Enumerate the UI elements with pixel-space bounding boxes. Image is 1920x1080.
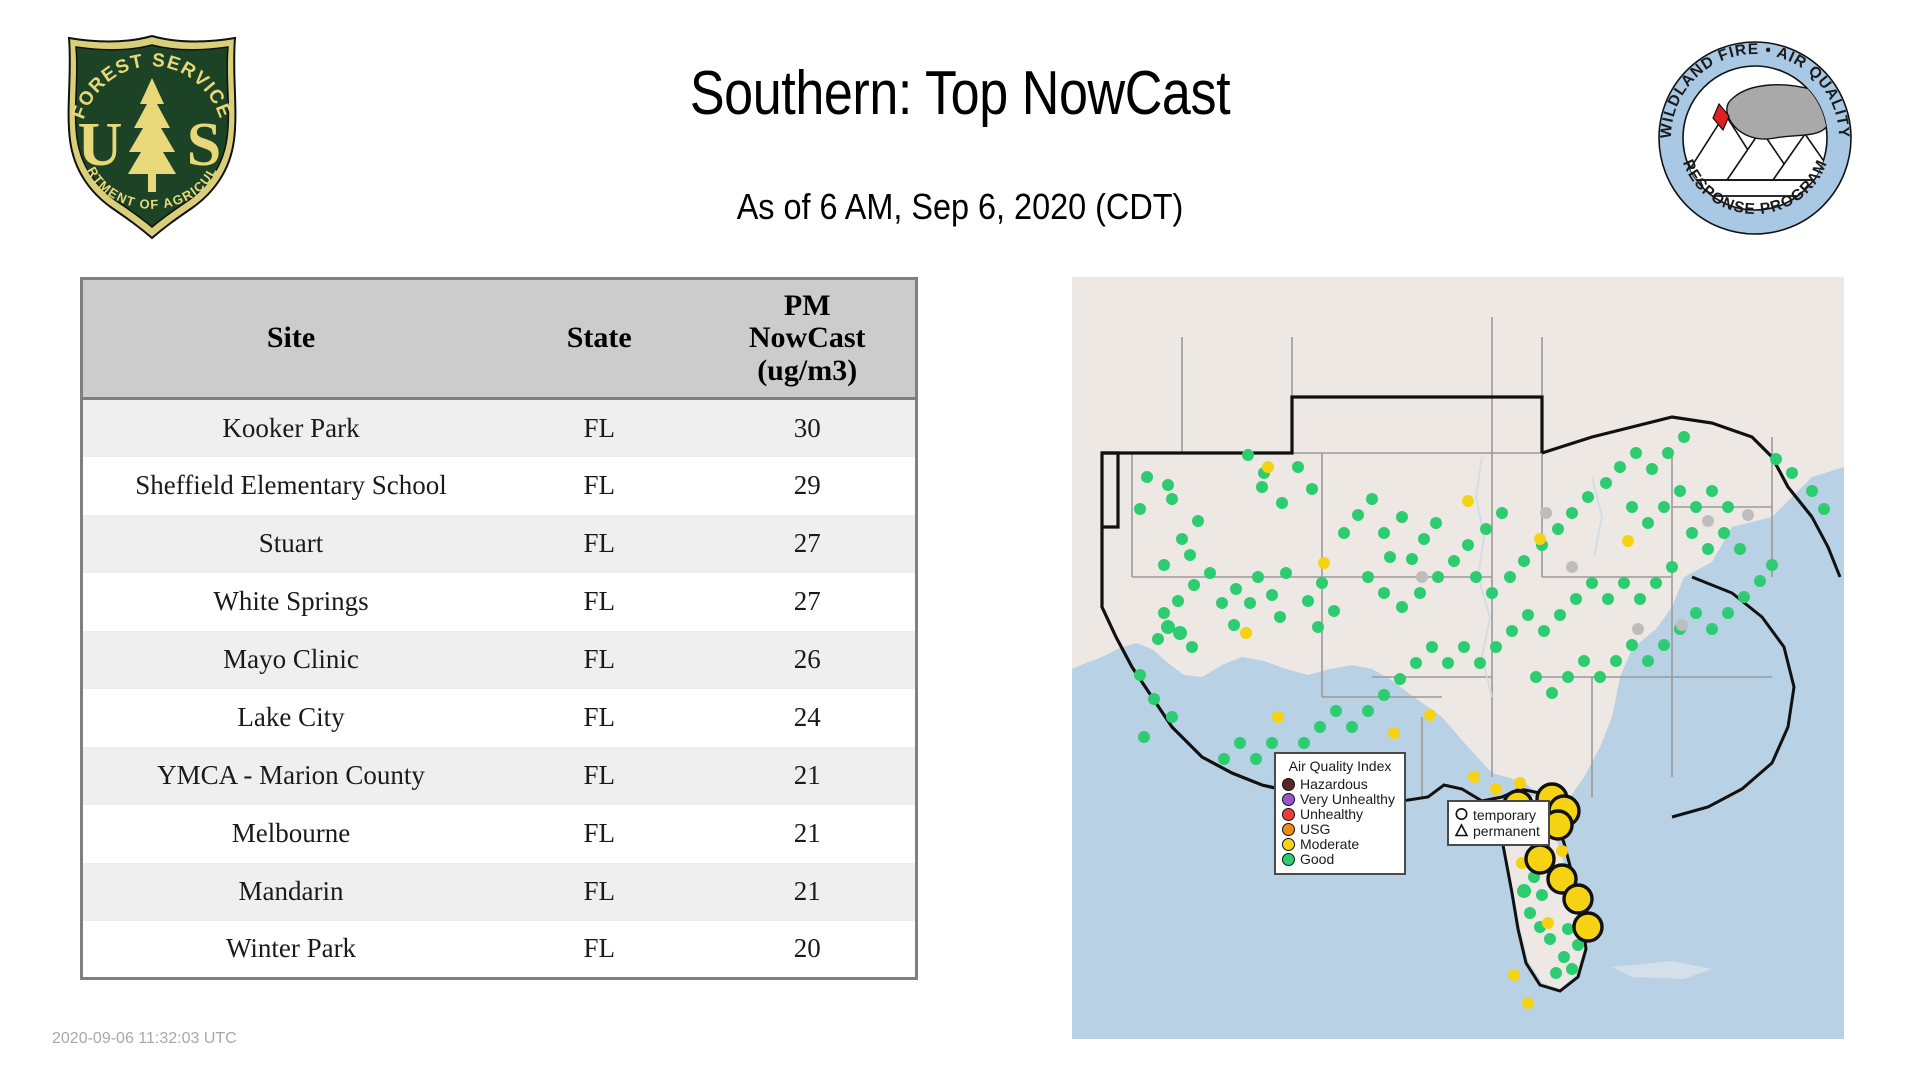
wildland-fire-air-quality-icon: WILDLAND FIRE • AIR QUALITY RESPONSE PRO… <box>1655 38 1855 238</box>
table-row: White Springs FL 27 <box>82 573 917 631</box>
aqi-swatch-icon <box>1282 793 1295 806</box>
aqi-legend-label: Moderate <box>1300 837 1359 851</box>
table-body: Kooker Park FL 30 Sheffield Elementary S… <box>82 399 917 979</box>
cell-state: FL <box>499 457 699 515</box>
column-header-state: State <box>499 279 699 399</box>
slide-root: FOREST SERVICE U S DEPARTMENT OF AGRICUL… <box>0 0 1920 1080</box>
pm-header-line-1: PM <box>703 290 911 322</box>
column-header-pm-nowcast: PM NowCast (ug/m3) <box>699 279 916 399</box>
aqi-legend-item-hazardous: Hazardous <box>1282 777 1398 791</box>
cell-pm: 21 <box>699 747 916 805</box>
permanent-triangle-icon <box>1454 823 1469 838</box>
cell-state: FL <box>499 573 699 631</box>
cell-site: YMCA - Marion County <box>82 747 500 805</box>
aqi-legend-item-good: Good <box>1282 852 1398 866</box>
cell-state: FL <box>499 921 699 979</box>
cell-pm: 21 <box>699 863 916 921</box>
cell-pm: 24 <box>699 689 916 747</box>
aqi-swatch-icon <box>1282 838 1295 851</box>
cell-site: Kooker Park <box>82 399 500 457</box>
aqi-swatch-icon <box>1282 853 1295 866</box>
cell-pm: 21 <box>699 805 916 863</box>
aqi-monitor-map[interactable] <box>1072 277 1844 1039</box>
cell-site: Melbourne <box>82 805 500 863</box>
table-row: Lake City FL 24 <box>82 689 917 747</box>
cell-state: FL <box>499 399 699 457</box>
page-subtitle: As of 6 AM, Sep 6, 2020 (CDT) <box>96 186 1824 228</box>
cell-site: Winter Park <box>82 921 500 979</box>
aqi-legend-title: Air Quality Index <box>1282 758 1398 774</box>
cell-site: Lake City <box>82 689 500 747</box>
page-title: Southern: Top NowCast <box>154 58 1767 129</box>
aqi-legend-item-unhealthy: Unhealthy <box>1282 807 1398 821</box>
cell-pm: 30 <box>699 399 916 457</box>
cell-state: FL <box>499 747 699 805</box>
aqi-swatch-icon <box>1282 808 1295 821</box>
aqi-legend-item-moderate: Moderate <box>1282 837 1398 851</box>
table-row: Melbourne FL 21 <box>82 805 917 863</box>
table-row: Sheffield Elementary School FL 29 <box>82 457 917 515</box>
aqi-legend: Air Quality Index Hazardous Very Unhealt… <box>1274 752 1406 875</box>
cell-state: FL <box>499 631 699 689</box>
aqi-legend-label: Good <box>1300 852 1334 866</box>
top-nowcast-table-container: Site State PM NowCast (ug/m3) Kooker Par… <box>80 277 918 980</box>
cell-site: Sheffield Elementary School <box>82 457 500 515</box>
top-site-marker[interactable] <box>1526 845 1554 873</box>
temporary-circle-icon <box>1454 807 1469 822</box>
cell-state: FL <box>499 863 699 921</box>
cell-pm: 29 <box>699 457 916 515</box>
top-site-marker[interactable] <box>1574 913 1602 941</box>
cell-site: White Springs <box>82 573 500 631</box>
cell-state: FL <box>499 689 699 747</box>
logo-letter-u: U <box>78 111 123 179</box>
site-type-temporary: temporary <box>1454 807 1540 822</box>
pm-header-line-2: NowCast <box>703 322 911 354</box>
aqi-legend-label: Hazardous <box>1300 777 1368 791</box>
table-row: Stuart FL 27 <box>82 515 917 573</box>
table-row: Mayo Clinic FL 26 <box>82 631 917 689</box>
cell-state: FL <box>499 805 699 863</box>
site-type-label: permanent <box>1473 824 1540 838</box>
pm-header-line-3: (ug/m3) <box>703 355 911 387</box>
table-header: Site State PM NowCast (ug/m3) <box>82 279 917 399</box>
cell-pm: 26 <box>699 631 916 689</box>
table-row: Winter Park FL 20 <box>82 921 917 979</box>
aqi-swatch-icon <box>1282 823 1295 836</box>
top-nowcast-table: Site State PM NowCast (ug/m3) Kooker Par… <box>80 277 918 980</box>
site-type-legend: temporary permanent <box>1447 800 1550 846</box>
cell-site: Mayo Clinic <box>82 631 500 689</box>
column-header-site: Site <box>82 279 500 399</box>
aqi-legend-label: Unhealthy <box>1300 807 1363 821</box>
aqi-legend-item-very-unhealthy: Very Unhealthy <box>1282 792 1398 806</box>
cell-site: Stuart <box>82 515 500 573</box>
top-site-marker[interactable] <box>1564 885 1592 913</box>
table-row: Mandarin FL 21 <box>82 863 917 921</box>
aqi-swatch-icon <box>1282 778 1295 791</box>
map-canvas <box>1072 277 1844 1039</box>
cell-pm: 27 <box>699 515 916 573</box>
table-row: YMCA - Marion County FL 21 <box>82 747 917 805</box>
cell-pm: 27 <box>699 573 916 631</box>
aqi-legend-item-usg: USG <box>1282 822 1398 836</box>
aqi-legend-label: USG <box>1300 822 1330 836</box>
table-header-row: Site State PM NowCast (ug/m3) <box>82 279 917 399</box>
cell-pm: 20 <box>699 921 916 979</box>
cell-site: Mandarin <box>82 863 500 921</box>
site-type-permanent: permanent <box>1454 823 1540 838</box>
cell-state: FL <box>499 515 699 573</box>
aqi-legend-label: Very Unhealthy <box>1300 792 1395 806</box>
generated-timestamp: 2020-09-06 11:32:03 UTC <box>52 1030 237 1048</box>
table-row: Kooker Park FL 30 <box>82 399 917 457</box>
wfaqrp-logo: WILDLAND FIRE • AIR QUALITY RESPONSE PRO… <box>1655 38 1855 238</box>
site-type-label: temporary <box>1473 808 1536 822</box>
